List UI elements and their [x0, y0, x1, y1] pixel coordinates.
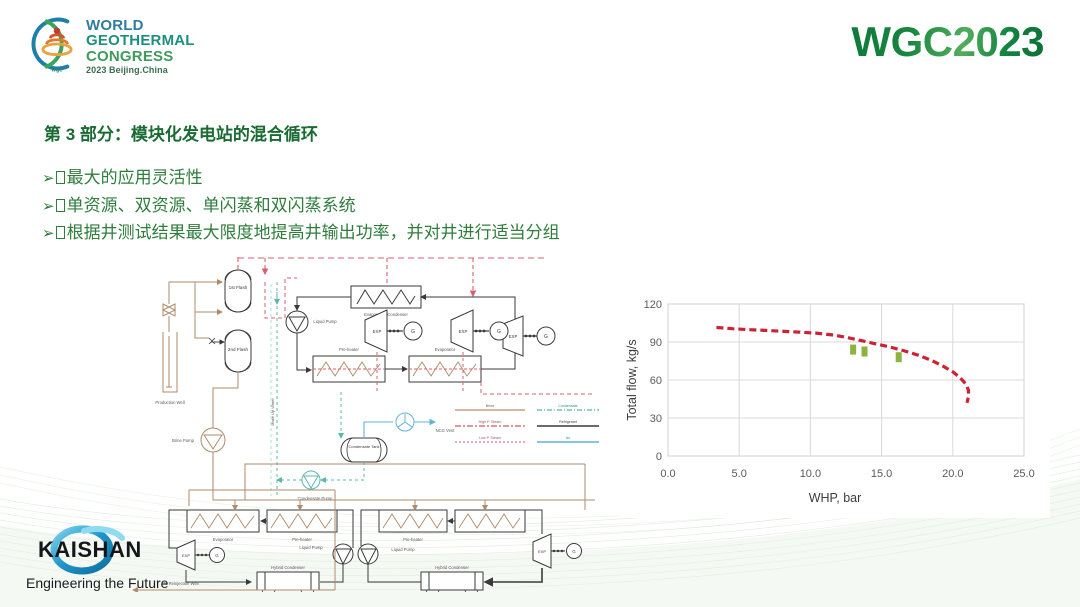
condensate-pump-unit: Condensate Pump [277, 462, 364, 501]
brand-title: WGC2023 [851, 18, 1044, 66]
x-tick-20: 20.0 [942, 468, 963, 480]
x-tick-15: 15.0 [871, 468, 892, 480]
chart-x-axis-title: WHP, bar [809, 491, 862, 505]
second-flash-label: 2nd Flash [228, 347, 249, 352]
bullet-missing-glyph-icon [56, 226, 65, 239]
generator-lower-right-label: G [572, 549, 576, 554]
bullet-missing-glyph-icon [56, 171, 65, 184]
legend-label-low-p-steam: Low P. Steam [479, 436, 501, 440]
page-title: 第 3 部分：模块化发电站的混合循环 [44, 120, 318, 145]
hybrid-condenser-left-label: Hybrid Condenser [271, 565, 305, 570]
hybrid-condenser-left-unit: Hybrid Condenser [186, 565, 319, 592]
y-tick-120: 120 [644, 299, 662, 311]
hybrid-condenser-right-label: Hybrid Condenser [435, 565, 469, 570]
pre-heater-lower-right-unit: Pre-heater [379, 510, 447, 542]
list-item: ➢最大的应用灵活性 [42, 164, 560, 192]
legend-label-condensate: Condensate [558, 404, 577, 408]
list-item-label: 最大的应用灵活性 [67, 168, 203, 187]
expander-2-label: EXP [373, 329, 382, 334]
liquid-pump-upper-label: Liquid Pump [313, 319, 337, 324]
wgc-logo-subtitle: 2023 Beijing.China [86, 66, 195, 75]
evaporator-upper-label: Evaporator [435, 347, 456, 352]
ncg-vent-unit: NCG Vent [364, 413, 455, 438]
list-item: ➢根据井测试结果最大限度地提高井输出功率，并对井进行适当分组 [42, 219, 560, 247]
x-tick-10: 10.0 [800, 468, 821, 480]
expander-3-label: EXP [459, 329, 468, 334]
condensate-tank-label: Condensate Tank [348, 444, 379, 449]
x-tick-25: 25.0 [1013, 468, 1034, 480]
liquid-pump-lower-left-label: Liquid Pump [299, 545, 323, 550]
expander-1-label: EXP [509, 334, 518, 339]
pre-heater-lower-left-label: Pre-heater [292, 537, 312, 542]
kaishan-wordmark: KAISHAN [38, 537, 142, 563]
generator-lower-left-label: G [215, 553, 219, 558]
pre-heater-lower-right-label: Pre-heater [403, 537, 423, 542]
evaporator-lower-unit: Evaporator [187, 510, 259, 542]
wgc-logo-line3: CONGRESS [86, 49, 195, 64]
legend-label-refrigerant: Refrigerant [559, 420, 577, 424]
kaishan-logo: KAISHAN Engineering the Future [16, 525, 176, 599]
well-deliverability-chart: 120 90 60 30 0 0.0 5.0 10.0 15.0 20.0 25… [620, 288, 1050, 518]
evaporator-lower-label: Evaporator [213, 537, 234, 542]
first-flash-vessel: 1st Flash ​ [225, 256, 251, 312]
diagram-legend: Brine High P. Steam Low P. Steam Condens… [455, 404, 599, 442]
list-item-label: 单资源、双资源、单闪蒸和双闪蒸系统 [67, 196, 356, 215]
legend-label-high-p-steam: High P. Steam [479, 420, 502, 424]
pre-heater-upper-unit: Pre-heater [313, 347, 385, 382]
wgc-logo-line1: WORLD [86, 18, 195, 33]
wgc-congress-logo: wgc WORLD GEOTHERMAL CONGRESS 2023 Beiji… [24, 8, 184, 80]
expander-1-unit: EXP G [503, 316, 555, 356]
brine-pump-label: Brine Pump [172, 438, 195, 443]
liquid-pump-upper-unit: Liquid Pump [286, 311, 337, 333]
y-tick-0: 0 [656, 451, 662, 463]
process-flow-diagram: Production Well 1st Flash ​ [125, 252, 600, 592]
list-item-label: 根据井测试结果最大限度地提高井输出功率，并对井进行适当分组 [67, 223, 560, 242]
liquid-pump-lower-right-label: Liquid Pump [391, 547, 415, 552]
brine-pump-unit: Brine Pump [172, 372, 238, 466]
list-item: ➢单资源、双资源、单闪蒸和双闪蒸系统 [42, 192, 560, 220]
wgc-mark-label: wgc [51, 67, 63, 73]
chart-data-point [862, 347, 868, 357]
production-well-unit: Production Well [155, 282, 222, 405]
chart-y-axis-title: Total flow, kg/s [625, 339, 639, 420]
generator-3-label: G [497, 329, 501, 335]
y-tick-60: 60 [650, 375, 662, 387]
expander-lower-right-label: EXP [538, 549, 546, 554]
generator-2-label: G [411, 329, 415, 335]
chart-data-point [896, 352, 902, 362]
chart-data-point [850, 345, 856, 355]
wgc-logo-mark-icon: wgc [24, 12, 90, 76]
wgc-logo-line2: GEOTHERMAL [86, 33, 195, 48]
hybrid-condenser-right-unit: Hybrid Condenser [421, 565, 483, 592]
bullet-list: ➢最大的应用灵活性 ➢单资源、双资源、单闪蒸和双闪蒸系统 ➢根据井测试结果最大限… [42, 164, 560, 247]
second-flash-vessel: 2nd Flash [209, 330, 251, 372]
pre-heater-lower-left-unit: Pre-heater [267, 510, 337, 542]
ncg-vent-label: NCG Vent [436, 428, 456, 433]
bullet-arrow-icon: ➢ [42, 224, 55, 242]
legend-label-brine: Brine [486, 404, 494, 408]
wgc-logo-wordmark: WORLD GEOTHERMAL CONGRESS 2023 Beijing.C… [86, 18, 195, 75]
generator-1-label: G [544, 334, 548, 340]
pre-heater-upper-label: Pre-heater [339, 347, 359, 352]
kaishan-tagline: Engineering the Future [26, 575, 168, 591]
x-tick-5: 5.0 [732, 468, 747, 480]
first-flash-label: 1st Flash [229, 285, 248, 290]
evaporator-lower-right-unit [455, 510, 525, 532]
y-tick-30: 30 [650, 413, 662, 425]
x-tick-0: 0.0 [660, 468, 675, 480]
legend-label-air: Air [566, 436, 571, 440]
y-tick-90: 90 [650, 337, 662, 349]
bullet-missing-glyph-icon [56, 199, 65, 212]
bullet-arrow-icon: ➢ [42, 197, 55, 215]
evaporator-upper-unit: Evaporator [409, 347, 481, 382]
production-well-label: Production Well [155, 400, 184, 405]
slide-root: wgc WORLD GEOTHERMAL CONGRESS 2023 Beiji… [0, 0, 1080, 607]
bullet-arrow-icon: ➢ [42, 169, 55, 187]
expander-lower-left-label: EXP [182, 553, 190, 558]
